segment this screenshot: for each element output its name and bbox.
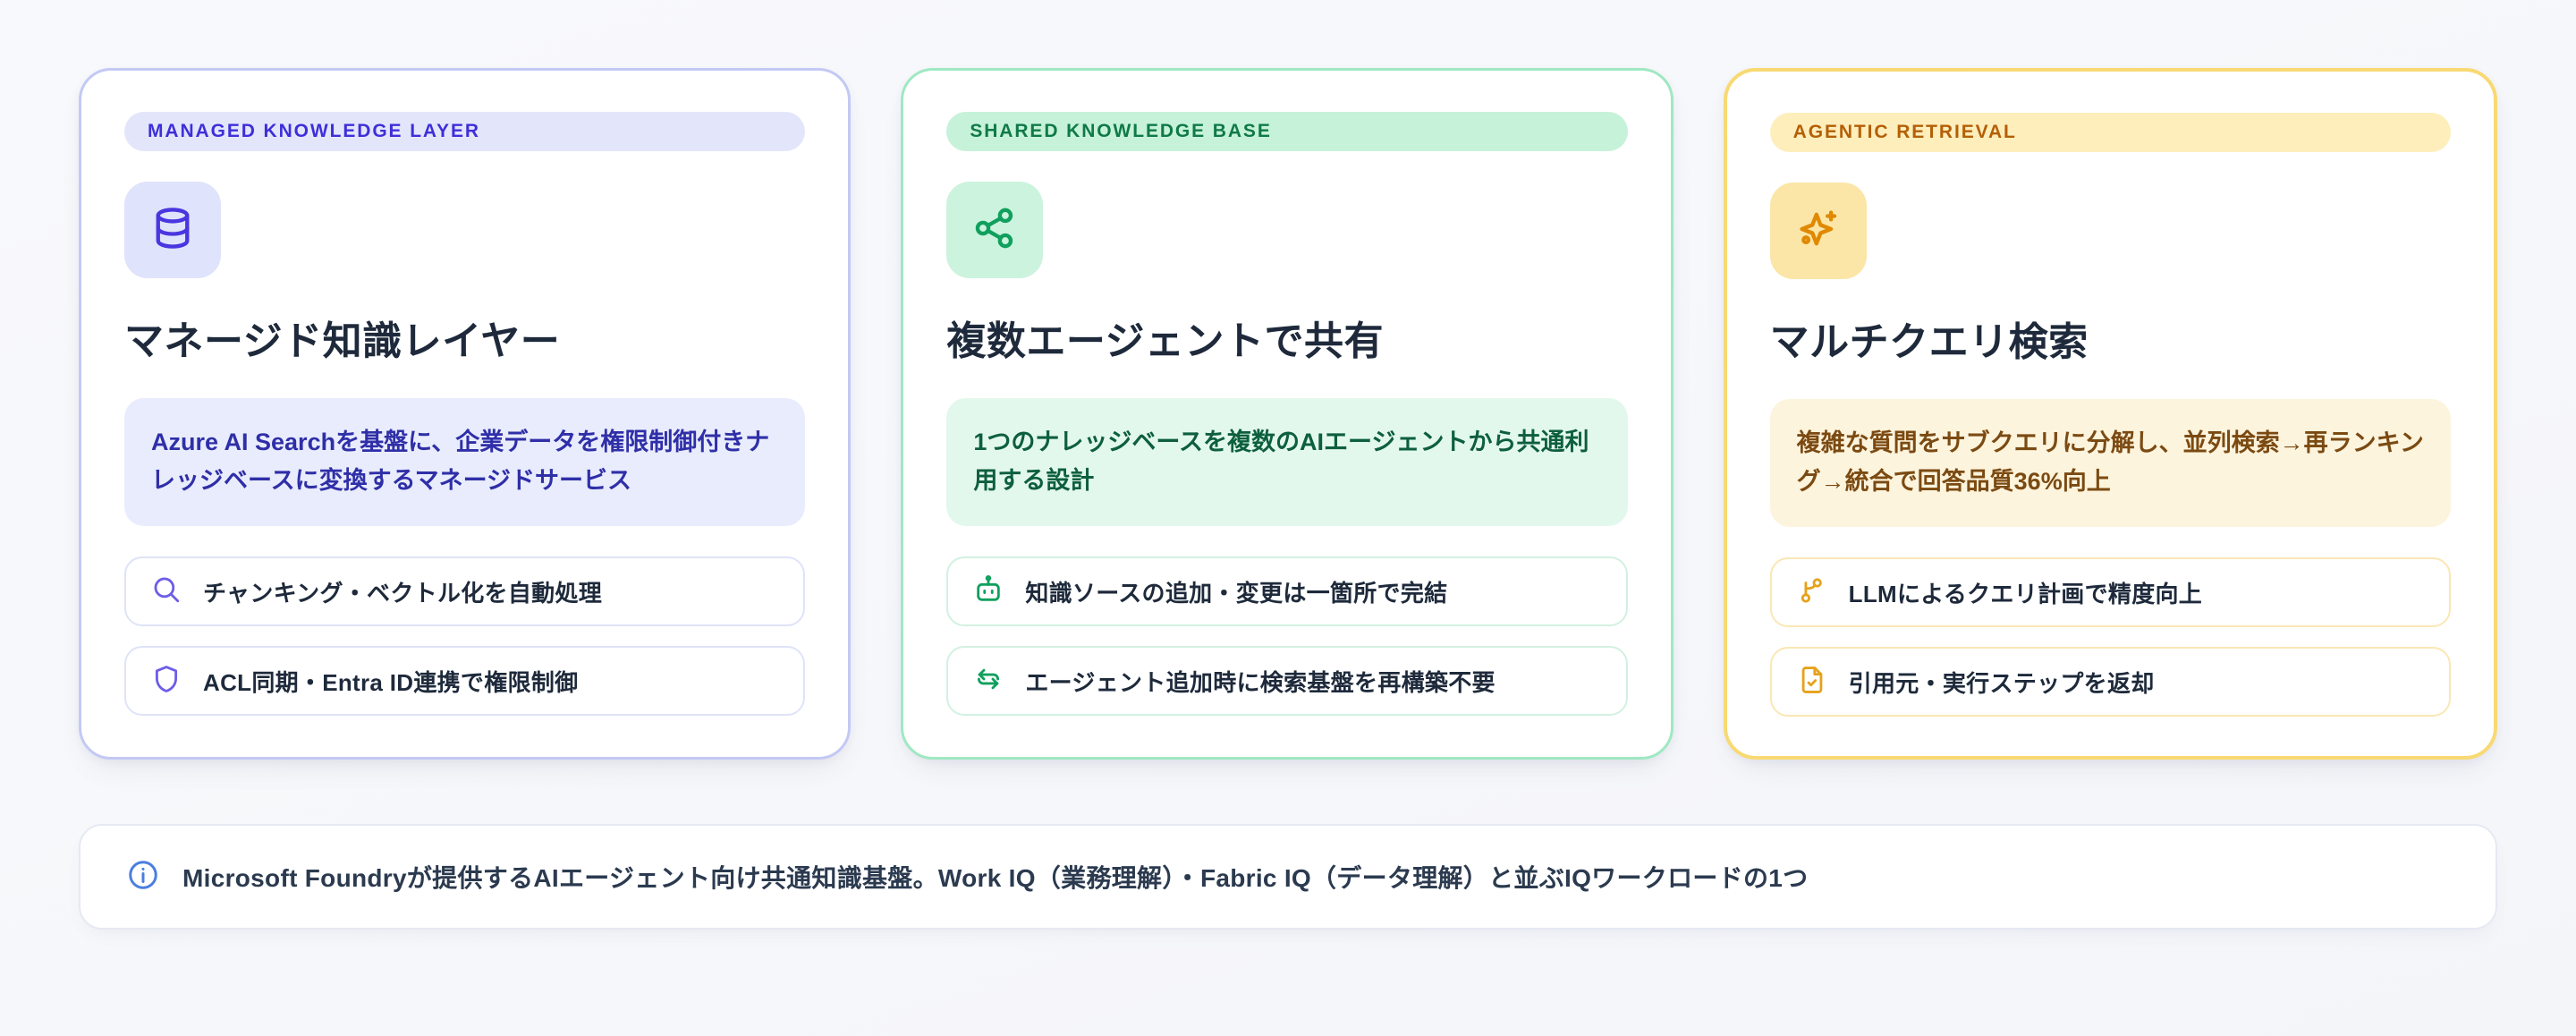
share-icon [971, 205, 1018, 256]
git-branch-icon [1797, 575, 1827, 610]
feature-row[interactable]: エージェント追加時に検索基盤を再構築不要 [946, 646, 1627, 716]
bot-icon [973, 574, 1004, 609]
feature-label: 引用元・実行ステップを返却 [1849, 666, 2155, 699]
feature-card-row: MANAGED KNOWLEDGE LAYER マネージド知識レイヤー Azur… [79, 68, 2497, 760]
card-description: Azure AI Searchを基盤に、企業データを権限制御付きナレッジベースに… [124, 398, 805, 526]
feature-row[interactable]: チャンキング・ベクトル化を自動処理 [124, 556, 805, 626]
info-icon [127, 859, 159, 896]
feature-label: ACL同期・Entra ID連携で権限制御 [203, 665, 578, 698]
sparkles-icon [1795, 206, 1842, 257]
card-tag: MANAGED KNOWLEDGE LAYER [124, 112, 805, 151]
file-check-icon [1797, 665, 1827, 700]
feature-label: 知識ソースの追加・変更は一箇所で完結 [1025, 575, 1447, 608]
card-feature-list: チャンキング・ベクトル化を自動処理 ACL同期・Entra ID連携で権限制御 [124, 556, 805, 716]
shield-icon [151, 664, 182, 699]
footer-note: Microsoft Foundryが提供するAIエージェント向け共通知識基盤。W… [79, 824, 2497, 930]
card-feature-list: LLMによるクエリ計画で精度向上 引用元・実行ステップを返却 [1770, 557, 2451, 717]
card-agentic-retrieval[interactable]: AGENTIC RETRIEVAL マルチクエリ検索 複雑な質問をサブクエリに分… [1724, 68, 2497, 760]
card-tag: SHARED KNOWLEDGE BASE [946, 112, 1627, 151]
card-description: 1つのナレッジベースを複数のAIエージェントから共通利用する設計 [946, 398, 1627, 526]
card-description: 複雑な質問をサブクエリに分解し、並列検索→再ランキング→統合で回答品質36%向上 [1770, 399, 2451, 527]
footer-text: Microsoft Foundryが提供するAIエージェント向け共通知識基盤。W… [182, 859, 1808, 895]
card-title: マルチクエリ検索 [1770, 318, 2451, 367]
card-icon-tile [1770, 183, 1867, 279]
page-root: MANAGED KNOWLEDGE LAYER マネージド知識レイヤー Azur… [0, 0, 2576, 1036]
feature-row[interactable]: 引用元・実行ステップを返却 [1770, 647, 2451, 717]
card-title: マネージド知識レイヤー [124, 318, 805, 366]
feature-row[interactable]: LLMによるクエリ計画で精度向上 [1770, 557, 2451, 627]
card-tag: AGENTIC RETRIEVAL [1770, 113, 2451, 152]
feature-row[interactable]: 知識ソースの追加・変更は一箇所で完結 [946, 556, 1627, 626]
search-icon [151, 574, 182, 609]
card-title: 複数エージェントで共有 [946, 318, 1627, 366]
card-icon-tile [946, 182, 1043, 278]
feature-row[interactable]: ACL同期・Entra ID連携で権限制御 [124, 646, 805, 716]
card-shared-knowledge-base[interactable]: SHARED KNOWLEDGE BASE 複数エージェントで共有 1つのナレッ… [901, 68, 1673, 760]
refresh-icon [973, 664, 1004, 699]
card-feature-list: 知識ソースの追加・変更は一箇所で完結 エージェント追加時に検索基盤を再構築不要 [946, 556, 1627, 716]
feature-label: エージェント追加時に検索基盤を再構築不要 [1025, 665, 1495, 698]
feature-label: チャンキング・ベクトル化を自動処理 [203, 575, 602, 608]
database-icon [149, 205, 196, 256]
card-managed-knowledge-layer[interactable]: MANAGED KNOWLEDGE LAYER マネージド知識レイヤー Azur… [79, 68, 851, 760]
card-icon-tile [124, 182, 221, 278]
feature-label: LLMによるクエリ計画で精度向上 [1849, 576, 2202, 609]
